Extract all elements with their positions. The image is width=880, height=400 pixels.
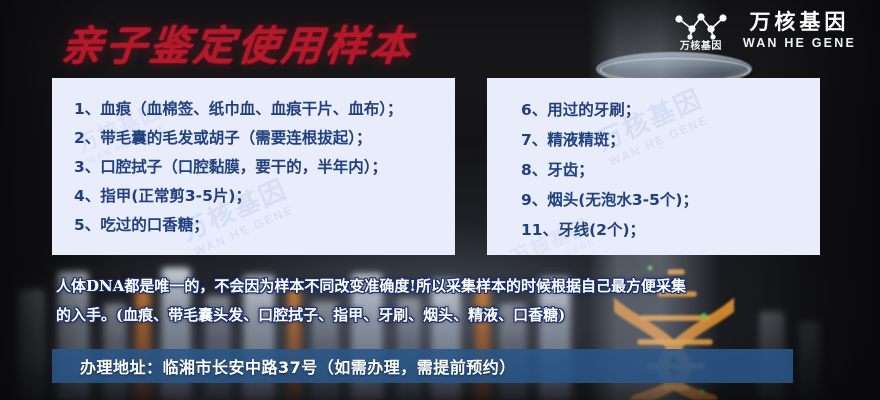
address-text: 办理地址：临湘市长安中路37号（如需办理，需提前预约） — [52, 354, 516, 378]
list-item: 9、烟头(无泡水3-5个)； — [521, 185, 820, 215]
list-item: 8、牙齿； — [521, 155, 820, 185]
notice-line-2: 的入手。(血痕、带毛囊头发、口腔拭子、指甲、牙刷、烟头、精液、口香糖) — [56, 301, 846, 330]
brand-name-cn: 万核基因 — [749, 12, 849, 34]
address-banner: 办理地址：临湘市长安中路37号（如需办理，需提前预约） — [52, 349, 793, 383]
sample-list-panel-left: 万核基因 WAN HE GENE 万核基因 WAN HE GENE 1、血痕（血… — [52, 78, 455, 255]
list-item: 6、用过的牙刷； — [521, 95, 820, 125]
brand-name: 万核基因 WAN HE GENE — [743, 12, 856, 50]
list-item: 11、牙线(2个)； — [521, 215, 820, 245]
brand-name-en: WAN HE GENE — [743, 37, 856, 50]
list-item: 4、指甲(正常剪3-5片)； — [74, 182, 455, 211]
list-item: 5、吃过的口香糖； — [74, 211, 455, 240]
sample-list-panel-right: 万核基因 WAN HE GENE 万核基因 WAN HE GENE 6、用过的牙… — [487, 78, 820, 255]
notice-line-1: 人体DNA都是唯一的，不会因为样本不同改变准确度!所以采集样本的时候根据自己最方… — [56, 272, 846, 301]
sample-list-right: 6、用过的牙刷； 7、精液精斑； 8、牙齿； 9、烟头(无泡水3-5个)； 11… — [487, 78, 820, 245]
list-item: 7、精液精斑； — [521, 125, 820, 155]
notice-paragraph: 人体DNA都是唯一的，不会因为样本不同改变准确度!所以采集样本的时候根据自己最方… — [56, 272, 846, 330]
sample-list-left: 1、血痕（血棉签、纸巾血、血痕干片、血布）； 2、带毛囊的毛发或胡子（需要连根拔… — [52, 78, 455, 240]
list-item: 1、血痕（血棉签、纸巾血、血痕干片、血布）； — [74, 95, 455, 124]
brand-logo: 万核基因 万核基因 WAN HE GENE — [673, 10, 856, 52]
list-item: 2、带毛囊的毛发或胡子（需要连根拔起）； — [74, 124, 455, 153]
brand-mark: 万核基因 — [673, 10, 729, 52]
brand-mark-label: 万核基因 — [680, 42, 722, 52]
list-item: 3、口腔拭子（口腔黏膜，要干的，半年内）； — [74, 153, 455, 182]
page-title: 亲子鉴定使用样本 — [59, 12, 417, 72]
slide-canvas: 亲子鉴定使用样本 — [0, 0, 880, 400]
molecule-icon — [673, 10, 729, 40]
